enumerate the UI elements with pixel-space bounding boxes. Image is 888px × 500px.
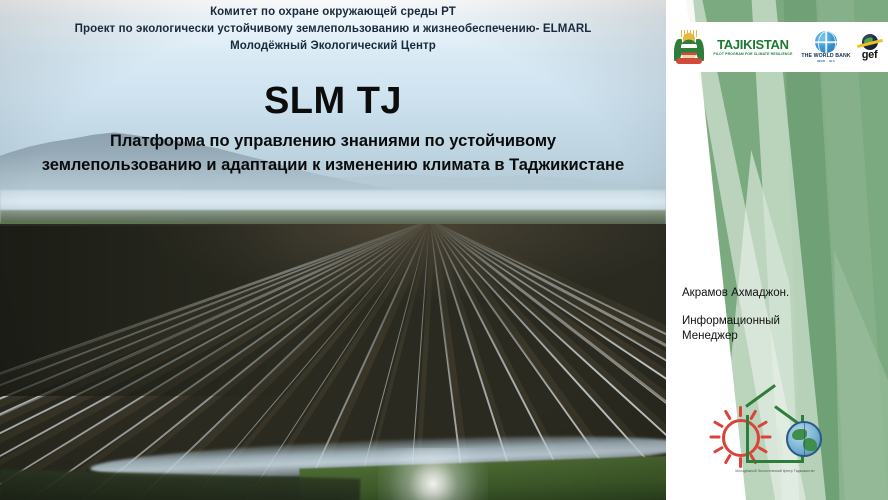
eco-sun-ray <box>739 457 742 468</box>
eco-sun-ray <box>724 409 732 420</box>
tajikistan-ppcr-logo: TAJIKISTAN PILOT PROGRAM FOR CLIMATE RES… <box>713 38 792 56</box>
main-content-area: Комитет по охране окружающей среды РТ Пр… <box>0 0 666 500</box>
presenter-role-line1: Информационный <box>682 314 872 329</box>
header-line-1: Комитет по охране окружающей среды РТ <box>0 4 666 21</box>
eco-sun-ray <box>724 454 732 465</box>
eco-meridian <box>804 423 805 455</box>
organization-header: Комитет по охране окружающей среды РТ Пр… <box>0 4 666 55</box>
emblem-ribbon <box>676 58 702 64</box>
world-bank-logo-tagline: IBRD · IDA <box>801 60 850 63</box>
page-title: SLM TJ <box>0 80 666 122</box>
eco-logo-caption: Молодёжный Экологический Центр Таджикист… <box>710 469 840 473</box>
globe-ring <box>818 31 837 53</box>
gef-logo-text: gef <box>860 50 880 61</box>
page-subtitle: Платформа по управлению знаниями по усто… <box>0 129 666 177</box>
youth-ecological-center-logo: Молодёжный Экологический Центр Таджикист… <box>710 405 840 491</box>
presentation-slide: Комитет по охране окружающей среды РТ Пр… <box>0 0 888 500</box>
field-photograph <box>0 0 666 500</box>
eco-globe-icon <box>786 421 822 457</box>
presenter-info: Акрамов Ахмаджон. Информационный Менедже… <box>682 286 872 344</box>
photo-vignette <box>0 0 666 500</box>
tajikistan-logo-text: TAJIKISTAN <box>713 38 792 51</box>
tajikistan-logo-tagline: PILOT PROGRAM FOR CLIMATE RESILIENCE <box>713 53 792 56</box>
subtitle-line-2: землепользованию и адаптации к изменению… <box>0 153 666 177</box>
presenter-name: Акрамов Ахмаджон. <box>682 286 872 301</box>
eco-sun-ray <box>713 420 724 428</box>
eco-sun-ray <box>710 436 721 439</box>
subtitle-line-1: Платформа по управлению знаниями по усто… <box>0 129 666 153</box>
right-sidebar-panel: TAJIKISTAN PILOT PROGRAM FOR CLIMATE RES… <box>666 0 888 500</box>
header-line-2: Проект по экологически устойчивому земле… <box>0 21 666 38</box>
tajikistan-emblem-icon <box>674 30 704 64</box>
header-line-3: Молодёжный Экологический Центр <box>0 38 666 55</box>
gef-logo: gef <box>860 34 880 61</box>
presenter-role-line2: Менеджер <box>682 329 872 344</box>
eco-sun-ray <box>713 446 724 454</box>
eco-sun-ray <box>739 406 742 417</box>
world-bank-globe-icon <box>815 31 837 53</box>
gef-globe-icon <box>860 34 880 51</box>
world-bank-logo: THE WORLD BANK IBRD · IDA <box>801 31 850 63</box>
donor-logo-band: TAJIKISTAN PILOT PROGRAM FOR CLIMATE RES… <box>666 22 888 72</box>
